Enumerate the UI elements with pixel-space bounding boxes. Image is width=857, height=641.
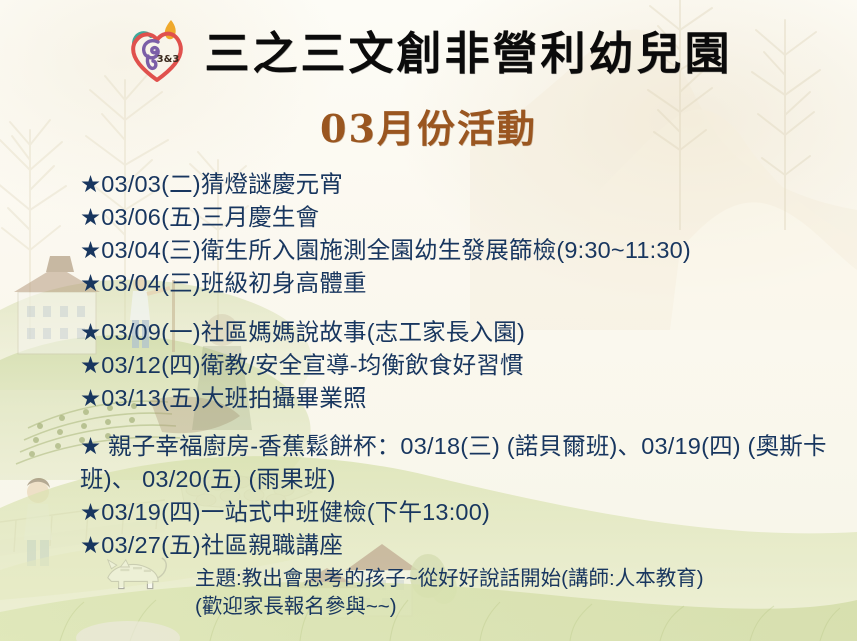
list-item: ★03/03(二)猜燈謎慶元宵 xyxy=(80,168,850,201)
activity-list: ★03/03(二)猜燈謎慶元宵 ★03/06(五)三月慶生會 ★03/04(三)… xyxy=(80,168,850,620)
poster-header: 3&3 三之三文創非營利幼兒園 xyxy=(0,14,857,92)
month-subtitle: 03月份活動 xyxy=(0,108,857,150)
logo-badge-text: 3&3 xyxy=(157,54,180,65)
list-item: ★03/13(五)大班拍攝畢業照 xyxy=(80,382,850,415)
lecture-topic-note: 主題:教出會思考的孩子~從好好說話開始(講師:人本教育) xyxy=(195,565,850,592)
list-item: ★03/12(四)衛教/安全宣導-均衡飲食好習慣 xyxy=(80,349,850,382)
list-item: ★03/04(三)衛生所入園施測全園幼生發展篩檢(9:30~11:30) xyxy=(80,234,850,267)
list-item: ★ 親子幸福廚房-香蕉鬆餅杯：03/18(三) (諾貝爾班)、03/19(四) … xyxy=(80,430,850,496)
child-figure xyxy=(24,478,52,566)
lecture-invite-note: (歡迎家長報名參與~~) xyxy=(195,593,850,620)
list-item: ★03/19(四)一站式中班健檢(下午13:00) xyxy=(80,496,850,529)
school-name-title: 三之三文創非營利幼兒園 xyxy=(204,31,732,76)
heart-spiral-flame-logo-icon: 3&3 xyxy=(124,18,190,88)
list-item: ★03/04(三)班級初身高體重 xyxy=(80,267,850,300)
list-item: ★03/27(五)社區親職講座 xyxy=(80,529,850,562)
school-logo: 3&3 xyxy=(124,18,190,88)
poster-canvas: 3&3 三之三文創非營利幼兒園 03月份活動 ★03/03(二)猜燈謎慶元宵 ★… xyxy=(0,0,857,641)
list-item: ★03/09(一)社區媽媽說故事(志工家長入園) xyxy=(80,316,850,349)
list-item: ★03/06(五)三月慶生會 xyxy=(80,201,850,234)
